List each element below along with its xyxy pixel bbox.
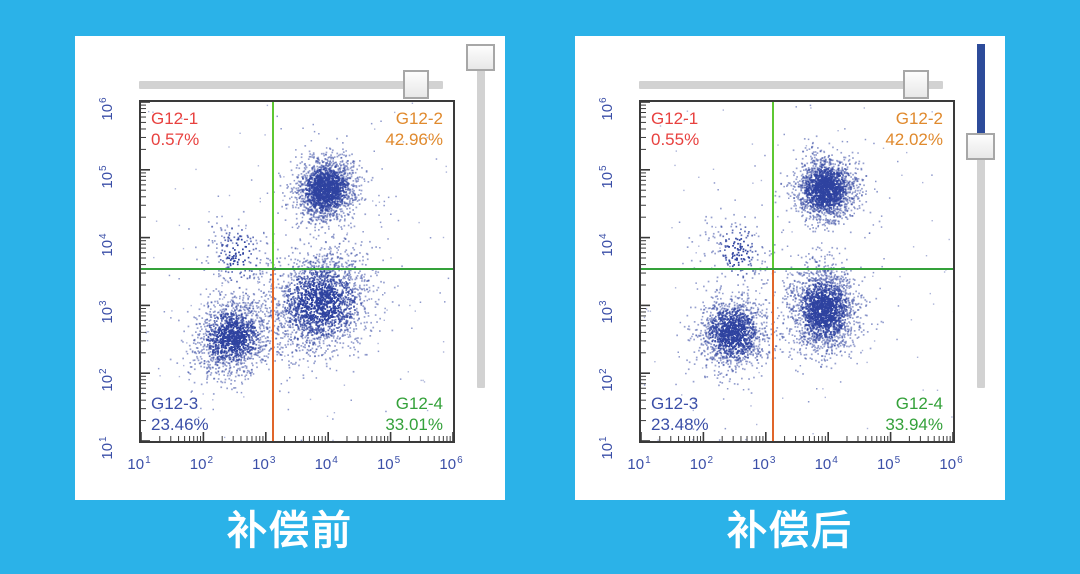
quadrant-label-q2: G12-2 42.96% xyxy=(385,108,443,150)
x-axis-after: 101102103104105106 xyxy=(639,443,955,483)
quadrant-label-q4: G12-4 33.01% xyxy=(385,393,443,435)
quadrant-percent-q2: 42.96% xyxy=(385,129,443,150)
x-tick-label: 101 xyxy=(127,455,150,473)
quadrant-label-q3: G12-3 23.48% xyxy=(651,393,709,435)
gate-line-vertical-upper[interactable] xyxy=(772,102,774,268)
y-tick-label: 106 xyxy=(598,97,616,120)
quadrant-percent-q3: 23.46% xyxy=(151,414,209,435)
x-axis-before: 101102103104105106 xyxy=(139,443,455,483)
y-tick-label: 103 xyxy=(598,301,616,324)
quadrant-percent-q4: 33.94% xyxy=(885,414,943,435)
y-tick-label: 103 xyxy=(98,301,116,324)
y-tick-label: 101 xyxy=(598,436,616,459)
y-tick-label: 102 xyxy=(98,369,116,392)
x-tick-label: 104 xyxy=(815,455,838,473)
quadrant-name-q4: G12-4 xyxy=(385,393,443,414)
x-tick-label: 102 xyxy=(190,455,213,473)
y-tick-label: 104 xyxy=(98,233,116,256)
x-tick-label: 106 xyxy=(439,455,462,473)
x-tick-label: 105 xyxy=(877,455,900,473)
quadrant-percent-q1: 0.57% xyxy=(151,129,199,150)
quadrant-label-q3: G12-3 23.46% xyxy=(151,393,209,435)
x-tick-label: 101 xyxy=(627,455,650,473)
y-tick-label: 105 xyxy=(98,165,116,188)
x-tick-label: 105 xyxy=(377,455,400,473)
panel-before: 101102103104105106 G12-1 0.57% G12-2 42.… xyxy=(75,36,505,500)
y-tick-label: 101 xyxy=(98,436,116,459)
gate-line-vertical-lower[interactable] xyxy=(272,268,274,441)
scatter-plot-after: 101102103104105106 G12-1 0.55% G12-2 42.… xyxy=(605,64,995,484)
quadrant-percent-q4: 33.01% xyxy=(385,414,443,435)
figure-stage: 101102103104105106 G12-1 0.57% G12-2 42.… xyxy=(0,0,1080,574)
quadrant-label-q1: G12-1 0.57% xyxy=(151,108,199,150)
caption-before: 补偿前 xyxy=(75,500,505,562)
y-axis-before: 101102103104105106 xyxy=(105,100,139,443)
gate-line-horizontal[interactable] xyxy=(641,268,953,270)
plot-area-after[interactable]: G12-1 0.55% G12-2 42.02% G12-3 23.48% G1… xyxy=(639,100,955,443)
y-tick-label: 102 xyxy=(598,369,616,392)
x-tick-label: 102 xyxy=(690,455,713,473)
quadrant-percent-q2: 42.02% xyxy=(885,129,943,150)
x-tick-label: 106 xyxy=(939,455,962,473)
quadrant-label-q4: G12-4 33.94% xyxy=(885,393,943,435)
y-tick-label: 106 xyxy=(98,97,116,120)
panel-after: 101102103104105106 G12-1 0.55% G12-2 42.… xyxy=(575,36,1005,500)
scatter-plot-before: 101102103104105106 G12-1 0.57% G12-2 42.… xyxy=(105,64,495,484)
quadrant-name-q1: G12-1 xyxy=(151,108,199,129)
quadrant-name-q4: G12-4 xyxy=(885,393,943,414)
quadrant-percent-q1: 0.55% xyxy=(651,129,699,150)
quadrant-name-q2: G12-2 xyxy=(385,108,443,129)
y-axis-after: 101102103104105106 xyxy=(605,100,639,443)
quadrant-label-q2: G12-2 42.02% xyxy=(885,108,943,150)
dot-cloud-after xyxy=(641,102,953,441)
quadrant-name-q3: G12-3 xyxy=(151,393,209,414)
y-tick-label: 104 xyxy=(598,233,616,256)
caption-after: 补偿后 xyxy=(575,500,1005,562)
gate-line-horizontal[interactable] xyxy=(141,268,453,270)
x-tick-label: 103 xyxy=(752,455,775,473)
quadrant-percent-q3: 23.48% xyxy=(651,414,709,435)
quadrant-name-q1: G12-1 xyxy=(651,108,699,129)
y-tick-label: 105 xyxy=(598,165,616,188)
quadrant-label-q1: G12-1 0.55% xyxy=(651,108,699,150)
quadrant-name-q2: G12-2 xyxy=(885,108,943,129)
x-tick-label: 103 xyxy=(252,455,275,473)
gate-line-vertical-lower[interactable] xyxy=(772,268,774,441)
x-tick-label: 104 xyxy=(315,455,338,473)
plot-area-before[interactable]: G12-1 0.57% G12-2 42.96% G12-3 23.46% G1… xyxy=(139,100,455,443)
dot-cloud-before xyxy=(141,102,453,441)
quadrant-name-q3: G12-3 xyxy=(651,393,709,414)
gate-line-vertical-upper[interactable] xyxy=(272,102,274,268)
